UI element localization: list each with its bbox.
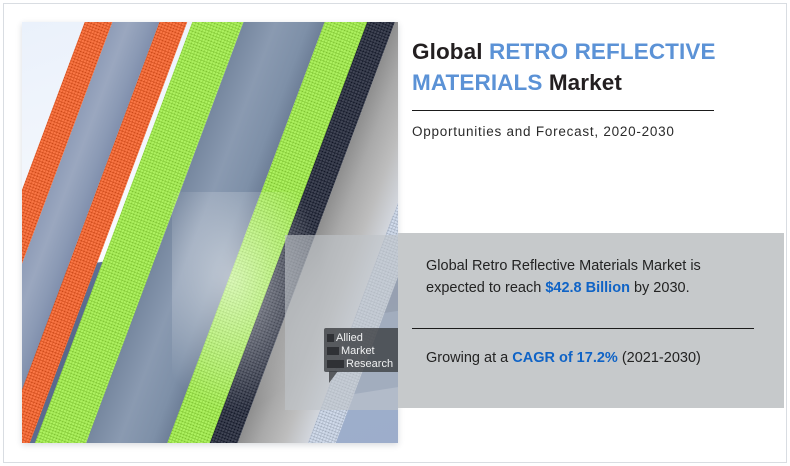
- logo-word-market: Market: [341, 346, 375, 357]
- photo-canvas: Allied Market Research: [22, 22, 398, 443]
- page-title-prefix: Global: [412, 39, 483, 64]
- cagr-period: (2021-2030): [622, 350, 701, 366]
- logo-word-research: Research: [346, 359, 393, 370]
- logo-line-3: Research: [327, 358, 398, 370]
- page-title-suffix: Market: [549, 70, 622, 95]
- cagr-statement: Growing at a CAGR of 17.2% (2021-2030): [426, 347, 772, 369]
- logo-bar-icon-2: [327, 347, 339, 355]
- logo-line-2: Market: [327, 345, 398, 357]
- page-title: Global RETRO REFLECTIVE MATERIALS Market: [412, 36, 760, 98]
- allied-market-research-logo: Allied Market Research: [324, 328, 398, 384]
- stats-divider: [412, 328, 754, 329]
- cagr-value: CAGR of 17.2%: [512, 350, 618, 366]
- infographic-root: Allied Market Research Global RETRO REFL…: [0, 0, 790, 466]
- logo-bar-icon-3: [327, 360, 344, 368]
- logo-word-allied: Allied: [336, 333, 363, 344]
- logo-bubble-tail-icon: [329, 371, 338, 383]
- page-subtitle: Opportunities and Forecast, 2020-2030: [412, 122, 760, 141]
- market-size-value: $42.8 Billion: [545, 280, 630, 296]
- logo-bar-icon-1: [327, 334, 334, 342]
- market-size-trail: by 2030.: [634, 280, 690, 296]
- cagr-lead: Growing at a: [426, 350, 508, 366]
- product-photo: Allied Market Research: [22, 22, 398, 443]
- market-size-statement: Global Retro Reflective Materials Market…: [426, 255, 762, 299]
- stats-panel: Global Retro Reflective Materials Market…: [398, 233, 784, 408]
- logo-line-1: Allied: [327, 332, 398, 344]
- logo-wordmark: Allied Market Research: [327, 332, 398, 371]
- title-divider: [412, 110, 714, 111]
